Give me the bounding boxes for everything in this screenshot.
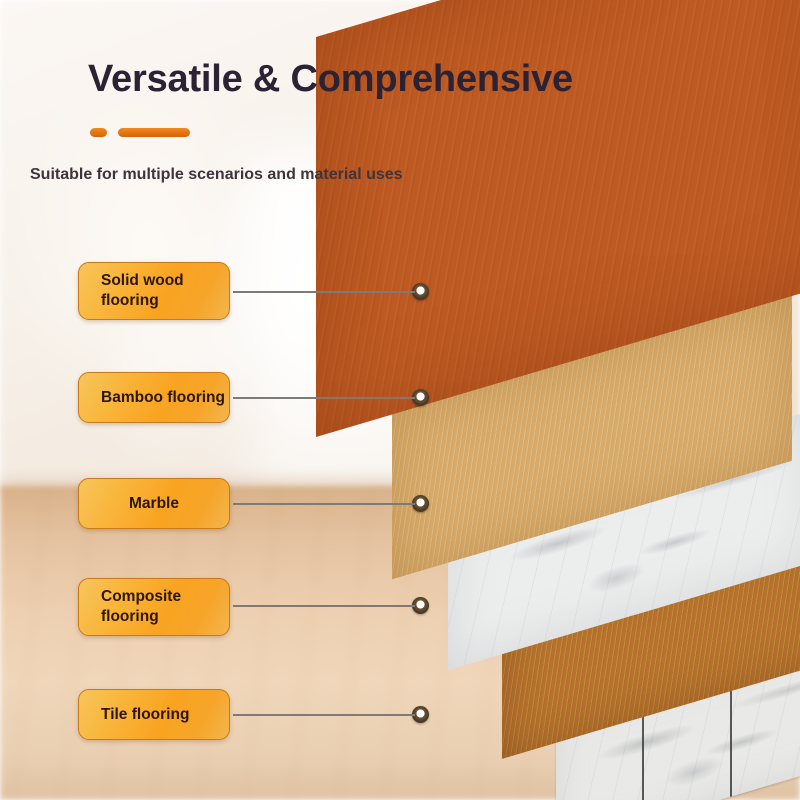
leader-line-marble (233, 503, 415, 505)
callout-chip-composite-flooring[interactable]: Composite flooring (78, 578, 230, 636)
page-title: Versatile & Comprehensive (88, 58, 573, 101)
page-subtitle: Suitable for multiple scenarios and mate… (30, 166, 403, 184)
callout-chip-bamboo-flooring[interactable]: Bamboo flooring (78, 372, 230, 423)
accent-bar-icon (118, 128, 190, 137)
leader-line-tile-flooring (233, 714, 415, 716)
callout-chip-tile-flooring[interactable]: Tile flooring (78, 689, 230, 740)
callout-chip-marble[interactable]: Marble (78, 478, 230, 529)
product-infographic: Solid wood flooring Bamboo flooring Marb… (0, 0, 800, 800)
leader-line-composite-flooring (233, 605, 415, 607)
leader-line-bamboo-flooring (233, 397, 415, 399)
leader-line-solid-wood-flooring (233, 291, 415, 293)
accent-dot-icon (90, 128, 107, 137)
callout-chip-solid-wood-flooring[interactable]: Solid wood flooring (78, 262, 230, 320)
accent-underline (90, 128, 190, 137)
